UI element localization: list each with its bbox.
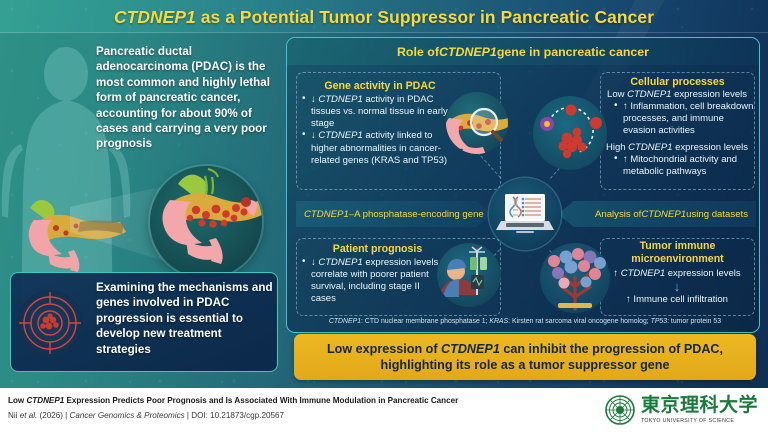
gene-name: CTDNEP1 <box>304 209 349 220</box>
gene-name: CTDNEP1 <box>628 142 672 153</box>
gene-activity-title: Gene activity in PDAC <box>300 80 460 92</box>
intro-text: Pancreatic ductal adenocarcinoma (PDAC) … <box>96 44 276 152</box>
tme-line-2: ↑ Immune cell infiltration <box>598 294 756 306</box>
low-expression-bullet: ↑ Inflammation, cell breakdown processes… <box>614 101 757 137</box>
university-name-jp: 東京理科大学 <box>641 396 758 415</box>
down-arrow-icon: ↓ <box>311 94 316 105</box>
gene-name: CTDNEP1 <box>26 396 64 405</box>
gene-name: CTDNEP1 <box>318 257 362 268</box>
patient-prognosis-bullet: ↓ CTDNEP1 expression levels correlate wi… <box>302 257 442 306</box>
citation-details: Nii et al. (2026) | Cancer Genomics & Pr… <box>8 411 598 421</box>
gene-name: CTDNEP1 <box>441 342 500 356</box>
university-emblem-icon <box>605 395 635 425</box>
gene-name: CTDNEP1 <box>318 94 362 105</box>
page-title-gene: CTDNEP1 <box>114 7 196 27</box>
gene-activity-bullet-2: ↓ CTDNEP1 activity linked to higher abno… <box>302 130 450 166</box>
conclusion-banner: Low expression of CTDNEP1 can inhibit th… <box>294 334 756 380</box>
gene-name: CTDNEP1 <box>318 130 362 141</box>
citation-title: Low CTDNEP1 Expression Predicts Poor Pro… <box>8 396 598 406</box>
chevron-right-label: Analysis of CTDNEP1 using datasets <box>558 201 756 227</box>
journal-name: Cancer Genomics & Proteomics <box>70 411 185 420</box>
pancreas-magnifier-icon <box>446 92 508 154</box>
page-title-rest: as a Potential Tumor Suppressor in Pancr… <box>196 7 654 27</box>
role-title-post: gene in pancreatic cancer <box>497 45 649 59</box>
cellular-processes-title: Cellular processes <box>600 76 755 88</box>
role-title-gene: CTDNEP1 <box>439 45 497 59</box>
down-arrow-icon: ↓ <box>311 130 316 141</box>
high-expression-bullet: ↑ Mitochondrial activity and metabolic p… <box>614 154 757 178</box>
gene-activity-body: ↓ CTDNEP1 activity in PDAC tissues vs. n… <box>302 94 450 167</box>
low-expression-label: Low CTDNEP1 expression levels <box>597 89 757 101</box>
doi-text[interactable]: | DOI: 10.21873/cgp.20567 <box>185 411 284 420</box>
patient-prognosis-body: ↓ CTDNEP1 expression levels correlate wi… <box>302 257 442 306</box>
university-name-en: TOKYO UNIVERSITY OF SCIENCE <box>641 418 758 424</box>
gene-name: CTDNEP1 <box>627 89 671 100</box>
down-arrow-icon: ↓ <box>598 280 756 294</box>
pancreas-small-illustration <box>18 188 136 274</box>
infographic-root: CTDNEP1 as a Potential Tumor Suppressor … <box>0 0 768 432</box>
gene-name: CTDNEP1 <box>641 209 686 220</box>
tumor-microenvironment-body: ↑ CTDNEP1 expression levels ↓ ↑ Immune c… <box>598 268 756 307</box>
laptop-dna-analysis-icon <box>489 178 561 250</box>
down-arrow-icon: ↓ <box>311 257 316 268</box>
patient-iv-drip-icon <box>437 243 501 307</box>
mechanisms-text: Examining the mechanisms and genes invol… <box>96 280 274 357</box>
cell-cluster-icon <box>533 96 607 170</box>
gene-activity-bullet-1: ↓ CTDNEP1 activity in PDAC tissues vs. n… <box>302 94 450 130</box>
chevron-left-label: CTDNEP1–A phosphatase-encoding gene <box>296 201 492 227</box>
role-panel-title: Role of CTDNEP1 gene in pancreatic cance… <box>287 38 759 65</box>
abbreviation-footnote: CTDNEP1: CTD nuclear membrane phosphatas… <box>292 318 758 327</box>
high-expression-label: High CTDNEP1 expression levels <box>597 142 757 154</box>
page-title: CTDNEP1 as a Potential Tumor Suppressor … <box>0 7 768 28</box>
tumor-vessel-icon <box>540 243 610 313</box>
tokyo-university-of-science-logo: 東京理科大学 TOKYO UNIVERSITY OF SCIENCE <box>605 394 758 426</box>
up-arrow-icon: ↑ <box>613 268 620 279</box>
tumor-microenvironment-title: Tumor immune microenvironment <box>600 240 755 265</box>
role-title-pre: Role of <box>397 45 439 59</box>
pancreas-illustration <box>150 166 262 278</box>
gene-name: CTDNEP1 <box>621 268 665 279</box>
patient-prognosis-title: Patient prognosis <box>300 243 455 255</box>
tumor-target-icon <box>17 290 83 356</box>
cellular-processes-body: Low CTDNEP1 expression levels ↑ Inflamma… <box>597 89 757 178</box>
